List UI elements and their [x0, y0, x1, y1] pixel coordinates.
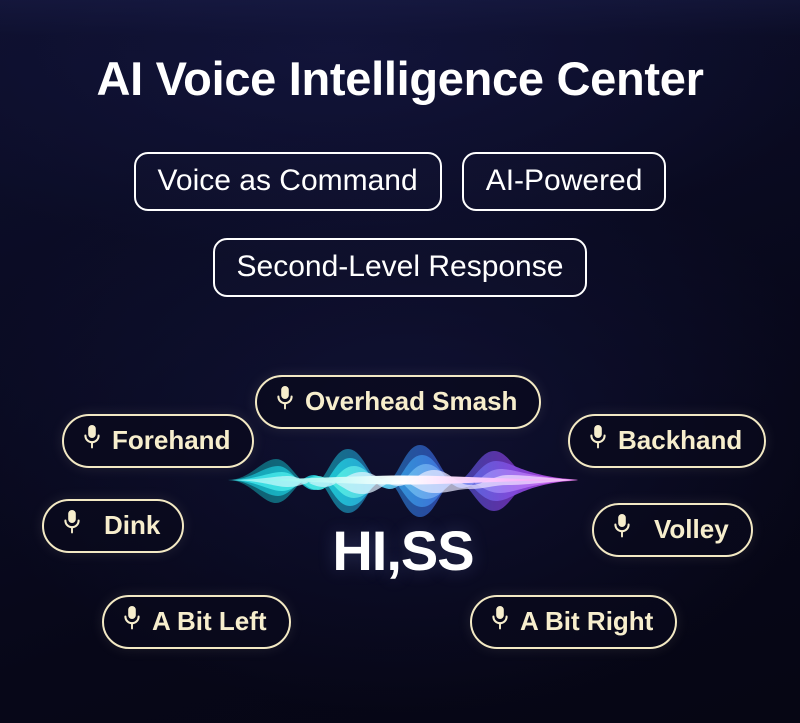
- voice-command-label: Volley: [654, 515, 729, 544]
- ai-voice-intelligence-center-panel: AI Voice Intelligence Center Voice as Co…: [0, 0, 800, 723]
- voice-command-pill-a-bit-right[interactable]: A Bit Right: [470, 595, 677, 649]
- microphone-icon: [275, 384, 295, 418]
- voice-command-pill-a-bit-left[interactable]: A Bit Left: [102, 595, 291, 649]
- chip-second-level-response[interactable]: Second-Level Response: [213, 238, 588, 297]
- microphone-icon: [588, 423, 608, 457]
- voice-command-pill-forehand[interactable]: Forehand: [62, 414, 254, 468]
- microphone-icon: [122, 604, 142, 638]
- feature-chip-row-1: Voice as Command AI-Powered: [0, 152, 800, 211]
- microphone-icon: [62, 508, 82, 542]
- microphone-icon: [82, 423, 102, 457]
- waveform-icon: [228, 435, 578, 525]
- voice-command-label: A Bit Right: [520, 607, 653, 636]
- chip-ai-powered[interactable]: AI-Powered: [462, 152, 667, 211]
- chip-voice-as-command[interactable]: Voice as Command: [134, 152, 442, 211]
- microphone-icon: [490, 604, 510, 638]
- voice-command-label: Dink: [104, 511, 160, 540]
- background-haze: [0, 0, 800, 60]
- voice-command-pill-overhead-smash[interactable]: Overhead Smash: [255, 375, 541, 429]
- voice-transcript: HI,SS: [228, 522, 578, 581]
- voice-command-pill-dink[interactable]: Dink: [42, 499, 184, 553]
- voice-command-label: Overhead Smash: [305, 387, 517, 416]
- voice-command-label: Backhand: [618, 426, 742, 455]
- microphone-icon: [612, 512, 632, 546]
- voice-command-label: Forehand: [112, 426, 230, 455]
- page-title: AI Voice Intelligence Center: [0, 52, 800, 106]
- voice-command-pill-backhand[interactable]: Backhand: [568, 414, 766, 468]
- voice-command-pill-volley[interactable]: Volley: [592, 503, 753, 557]
- voice-command-label: A Bit Left: [152, 607, 267, 636]
- feature-chip-row-2: Second-Level Response: [0, 238, 800, 297]
